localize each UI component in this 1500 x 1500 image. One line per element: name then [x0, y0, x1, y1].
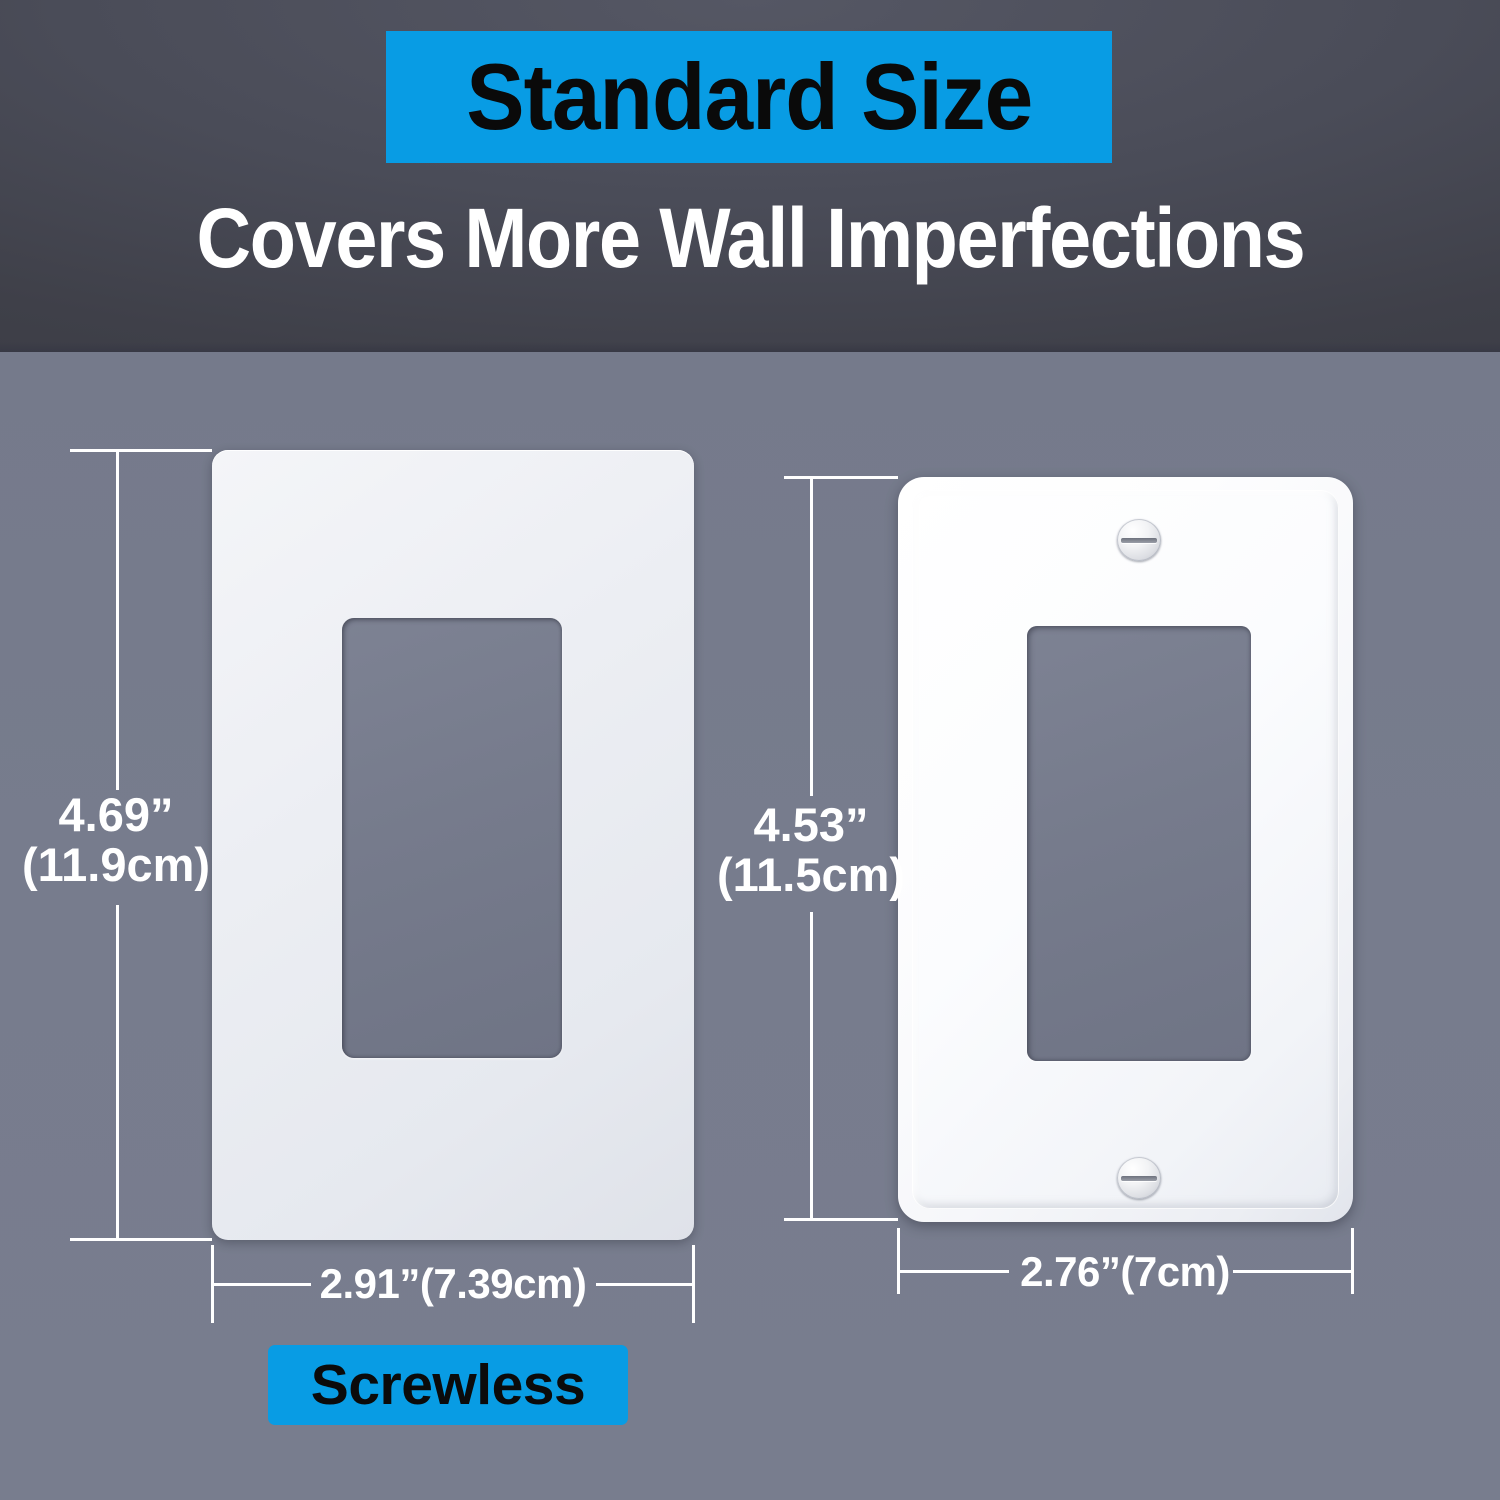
screwless-wall-plate [212, 450, 694, 1240]
standard-height-label: 4.53” (11.5cm) [700, 800, 922, 900]
standard-height-line-lower [810, 912, 813, 1220]
standard-height-tick-top [784, 476, 898, 479]
screwless-height-cm: (11.9cm) [0, 840, 232, 890]
screwless-height-line-upper [116, 449, 119, 790]
screwless-height-tick-bottom [70, 1238, 212, 1241]
standard-plate-bevel [912, 490, 1339, 1209]
screwless-width-label: 2.91”(7.39cm) [218, 1262, 688, 1307]
header-subtitle: Covers More Wall Imperfections [0, 196, 1500, 280]
standard-height-line-upper [810, 476, 813, 796]
infographic-canvas: Standard Size Covers More Wall Imperfect… [0, 0, 1500, 1500]
standard-size-badge-label: Standard Size [466, 50, 1032, 144]
standard-height-cm: (11.5cm) [700, 850, 922, 900]
screwless-height-label: 4.69” (11.9cm) [0, 790, 232, 890]
screwless-badge-label: Screwless [311, 1357, 585, 1414]
standard-size-badge: Standard Size [386, 31, 1112, 163]
standard-wall-plate [898, 477, 1353, 1222]
screwless-badge: Screwless [268, 1345, 628, 1425]
standard-width-label: 2.76”(7cm) [900, 1250, 1350, 1295]
standard-height-tick-bottom [784, 1218, 898, 1221]
standard-width-tick-right [1351, 1228, 1354, 1294]
screw-icon-bottom [1117, 1157, 1161, 1199]
header-banner: Standard Size Covers More Wall Imperfect… [0, 0, 1500, 352]
screw-icon-top [1117, 519, 1161, 561]
header-subtitle-text: Covers More Wall Imperfections [196, 196, 1304, 280]
screwless-height-inches: 4.69” [0, 790, 232, 840]
screwless-height-tick-top [70, 449, 212, 452]
screwless-plate-opening [342, 618, 562, 1058]
standard-height-inches: 4.53” [700, 800, 922, 850]
screwless-height-line-lower [116, 905, 119, 1241]
standard-plate-opening [1027, 626, 1251, 1061]
